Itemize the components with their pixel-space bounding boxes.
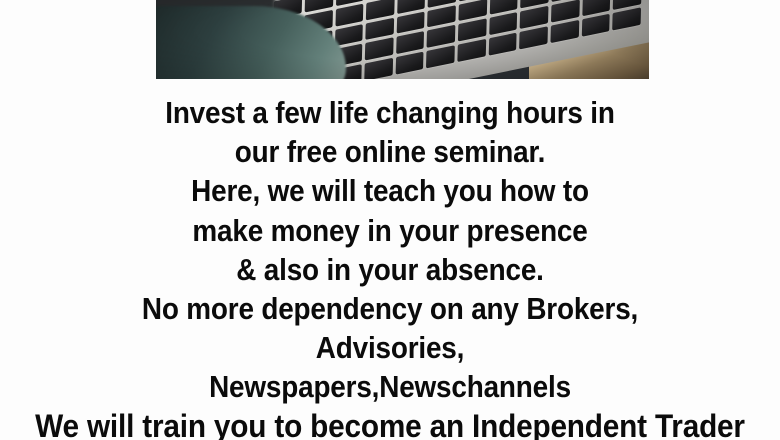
headline-line-2: our free online seminar.	[39, 132, 741, 171]
headline-line-9: We will train you to become an Independe…	[27, 407, 752, 440]
headline-line-4: make money in your presence	[39, 211, 741, 250]
headline-line-3: Here, we will teach you how to	[39, 171, 741, 210]
laptop-trading-chart-photo	[156, 0, 649, 79]
headline-line-1: Invest a few life changing hours in	[39, 93, 741, 132]
headline-block: Invest a few life changing hours in our …	[0, 93, 780, 440]
headline-line-8: Newspapers,Newschannels	[39, 367, 741, 406]
headline-line-7: Advisories,	[39, 328, 741, 367]
headline-line-5: & also in your absence.	[39, 250, 741, 289]
photo-vignette	[156, 0, 649, 79]
headline-line-6: No more dependency on any Brokers,	[39, 289, 741, 328]
promo-poster: Invest a few life changing hours in our …	[0, 0, 780, 440]
